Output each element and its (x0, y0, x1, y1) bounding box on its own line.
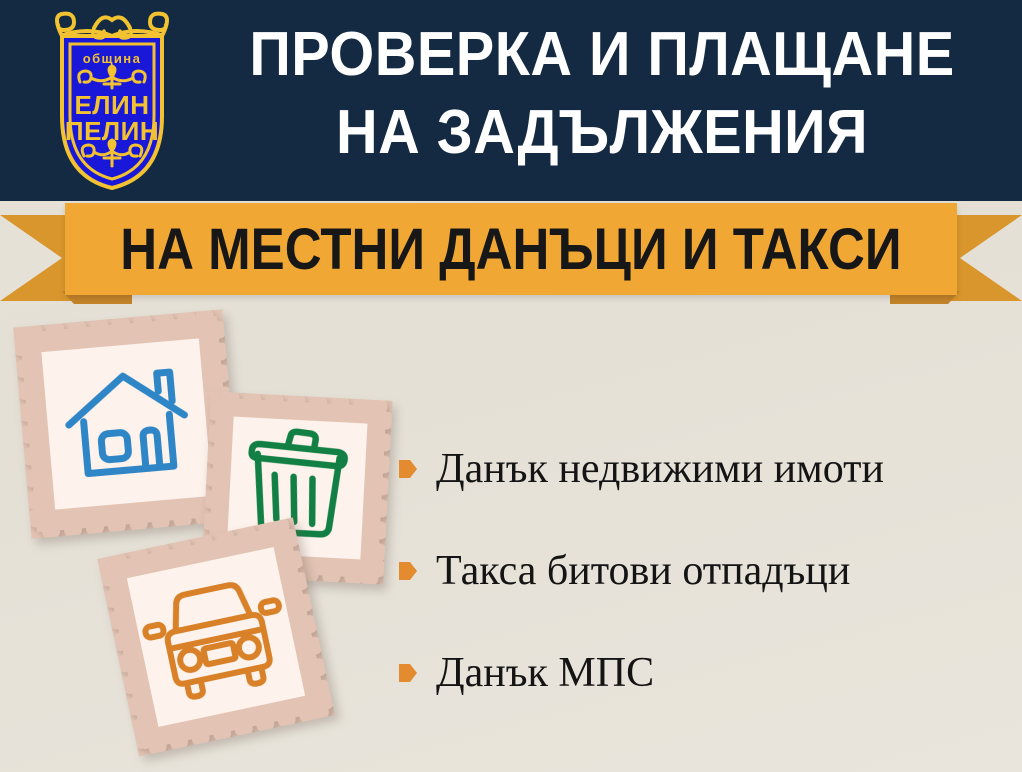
crest-top-text: община (83, 51, 141, 66)
header-bar: община ЕЛИН ПЕЛИН (0, 0, 1022, 201)
vehicle-stamp-graphic (97, 517, 335, 756)
ribbon-band: НА МЕСТНИ ДАНЪЦИ И ТАКСИ (65, 203, 957, 295)
poster-root: община ЕЛИН ПЕЛИН (0, 0, 1022, 772)
municipality-logo: община ЕЛИН ПЕЛИН (32, 6, 192, 194)
list-item-label: Такса битови отпадъци (436, 550, 850, 592)
title-line-1: ПРОВЕРКА И ПЛАЩАНЕ (224, 16, 979, 94)
ribbon-text: НА МЕСТНИ ДАНЪЦИ И ТАКСИ (120, 216, 901, 283)
title-line-2: НА ЗАДЪЛЖЕНИЯ (224, 94, 979, 172)
stamp-card-vehicle (97, 517, 335, 756)
list-item[interactable]: Данък недвижими имоти (398, 418, 1010, 520)
arrow-bullet-icon (398, 662, 418, 684)
tax-type-list: Данък недвижими имоти Такса битови отпад… (398, 418, 1010, 724)
list-item[interactable]: Данък МПС (398, 622, 1010, 724)
list-item[interactable]: Такса битови отпадъци (398, 520, 1010, 622)
arrow-bullet-icon (398, 458, 418, 480)
list-item-label: Данък недвижими имоти (436, 448, 884, 490)
page-title: ПРОВЕРКА И ПЛАЩАНЕ НА ЗАДЪЛЖЕНИЯ (196, 16, 1008, 172)
crest-icon: община ЕЛИН ПЕЛИН (32, 6, 192, 194)
arrow-bullet-icon (398, 560, 418, 582)
list-item-label: Данък МПС (436, 652, 654, 694)
subtitle-ribbon: НА МЕСТНИ ДАНЪЦИ И ТАКСИ (0, 198, 1022, 313)
